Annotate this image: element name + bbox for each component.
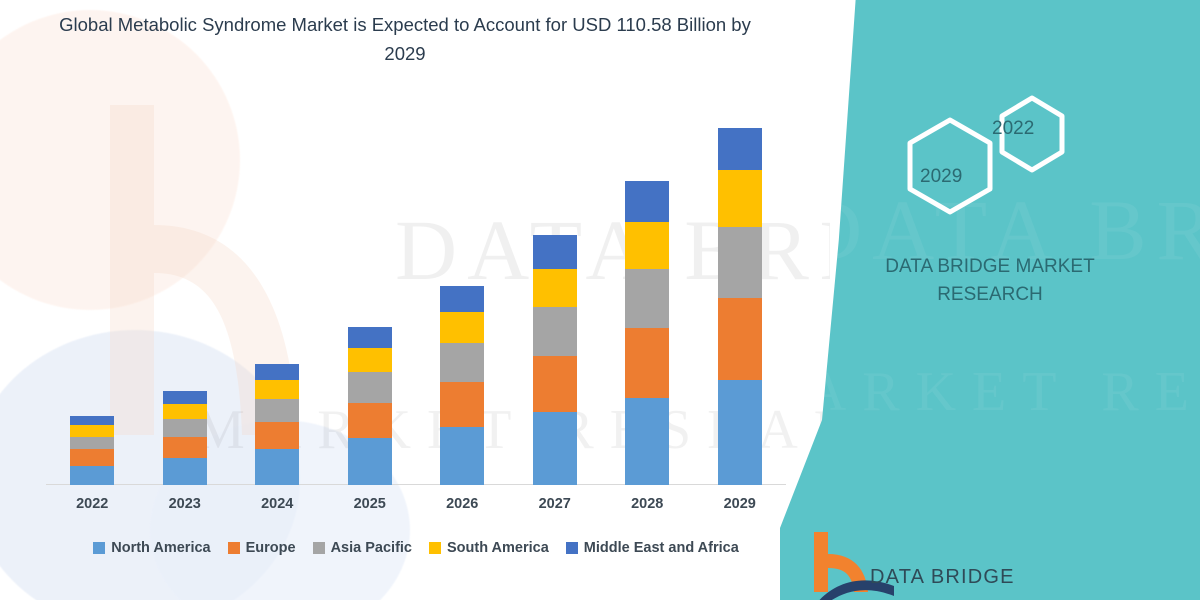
bar-segment[interactable] <box>348 372 392 403</box>
bar-segment[interactable] <box>440 312 484 343</box>
bar-segment[interactable] <box>718 170 762 227</box>
x-axis-tick-2024: 2024 <box>231 496 324 512</box>
legend-item[interactable]: South America <box>429 540 549 556</box>
bar-segment[interactable] <box>718 128 762 170</box>
stacked-bar[interactable] <box>718 128 762 485</box>
bar-group <box>509 120 602 485</box>
stacked-bar[interactable] <box>163 391 207 485</box>
bar-segment[interactable] <box>440 427 484 485</box>
legend-item[interactable]: North America <box>93 540 210 556</box>
bar-segment[interactable] <box>348 438 392 485</box>
bar-segment[interactable] <box>625 269 669 329</box>
legend-label: Europe <box>246 540 296 556</box>
hexagon-badges: 2029 2022 <box>880 90 1080 230</box>
hexagon-label-large: 2029 <box>920 166 962 188</box>
bar-segment[interactable] <box>255 399 299 422</box>
bar-segment[interactable] <box>348 403 392 439</box>
brand-watermark-line-2: MARKET RESEARCH <box>780 360 1200 424</box>
legend-label: South America <box>447 540 549 556</box>
legend-item[interactable]: Middle East and Africa <box>566 540 739 556</box>
data-bridge-logo: DATA BRIDGE <box>808 530 1058 600</box>
bar-group <box>601 120 694 485</box>
bar-segment[interactable] <box>440 382 484 427</box>
bar-segment[interactable] <box>255 380 299 399</box>
x-axis-tick-2028: 2028 <box>601 496 694 512</box>
legend-item[interactable]: Europe <box>228 540 296 556</box>
bar-group <box>324 120 417 485</box>
bar-segment[interactable] <box>533 307 577 355</box>
infographic-slide: DATA BRIDGE MARKET RESEARCH Global Metab… <box>0 0 1200 600</box>
legend-swatch-icon <box>228 542 240 554</box>
bar-group <box>231 120 324 485</box>
logo-text: DATA BRIDGE <box>870 566 1015 589</box>
bar-segment[interactable] <box>718 227 762 298</box>
stacked-bar[interactable] <box>625 181 669 485</box>
bar-segment[interactable] <box>70 449 114 465</box>
bar-segment[interactable] <box>348 348 392 372</box>
x-axis-tick-2025: 2025 <box>324 496 417 512</box>
bar-segment[interactable] <box>625 222 669 269</box>
hexagon-shapes-icon <box>880 90 1080 230</box>
bar-segment[interactable] <box>718 298 762 380</box>
x-axis-tick-2029: 2029 <box>694 496 787 512</box>
legend-label: Asia Pacific <box>331 540 412 556</box>
stacked-bar-chart <box>46 120 786 485</box>
bar-segment[interactable] <box>348 327 392 348</box>
bar-segment[interactable] <box>440 286 484 312</box>
bar-group <box>416 120 509 485</box>
bar-segment[interactable] <box>70 416 114 426</box>
brand-name: DATA BRIDGE MARKET RESEARCH <box>875 253 1105 309</box>
legend-label: North America <box>111 540 210 556</box>
x-axis-tick-2027: 2027 <box>509 496 602 512</box>
legend-item[interactable]: Asia Pacific <box>313 540 412 556</box>
stacked-bar[interactable] <box>440 286 484 485</box>
bar-segment[interactable] <box>718 380 762 485</box>
stacked-bar[interactable] <box>255 364 299 485</box>
bar-segment[interactable] <box>625 181 669 221</box>
stacked-bar[interactable] <box>533 235 577 485</box>
stacked-bar[interactable] <box>348 327 392 485</box>
chart-legend: North AmericaEuropeAsia PacificSouth Ame… <box>46 540 786 556</box>
bar-group <box>139 120 232 485</box>
bar-segment[interactable] <box>255 364 299 380</box>
bar-segment[interactable] <box>163 437 207 458</box>
bar-segment[interactable] <box>533 412 577 485</box>
x-axis-tick-2023: 2023 <box>139 496 232 512</box>
bar-segment[interactable] <box>70 466 114 485</box>
brand-panel: DATA BRIDGE MARKET RESEARCH Market, By R… <box>780 0 1200 600</box>
x-axis-tick-2022: 2022 <box>46 496 139 512</box>
bar-group <box>46 120 139 485</box>
legend-swatch-icon <box>93 542 105 554</box>
bar-segment[interactable] <box>625 398 669 485</box>
stacked-bar[interactable] <box>70 416 114 485</box>
legend-swatch-icon <box>313 542 325 554</box>
bar-segment[interactable] <box>163 419 207 437</box>
x-axis-labels: 20222023202420252026202720282029 <box>46 496 786 520</box>
bar-segment[interactable] <box>440 343 484 382</box>
bar-segment[interactable] <box>255 449 299 485</box>
page-title: Global Metabolic Syndrome Market is Expe… <box>40 10 770 68</box>
bar-segment[interactable] <box>533 356 577 413</box>
legend-swatch-icon <box>566 542 578 554</box>
bar-group <box>694 120 787 485</box>
brand-panel-title: Market, By Regions, 2022 to 2029 <box>854 0 1184 2</box>
bar-segment[interactable] <box>163 458 207 485</box>
x-axis-tick-2026: 2026 <box>416 496 509 512</box>
bridge-logo-icon <box>808 530 1058 600</box>
hexagon-label-small: 2022 <box>992 118 1034 140</box>
legend-label: Middle East and Africa <box>584 540 739 556</box>
bar-segment[interactable] <box>533 235 577 269</box>
bar-segment[interactable] <box>70 437 114 450</box>
bar-segment[interactable] <box>533 269 577 308</box>
bar-segment[interactable] <box>255 422 299 449</box>
bar-segment[interactable] <box>163 391 207 404</box>
bar-segment[interactable] <box>70 425 114 436</box>
chart-panel: DATA BRIDGE MARKET RESEARCH Global Metab… <box>0 0 830 600</box>
bar-segment[interactable] <box>625 328 669 397</box>
bar-segment[interactable] <box>163 404 207 419</box>
legend-swatch-icon <box>429 542 441 554</box>
